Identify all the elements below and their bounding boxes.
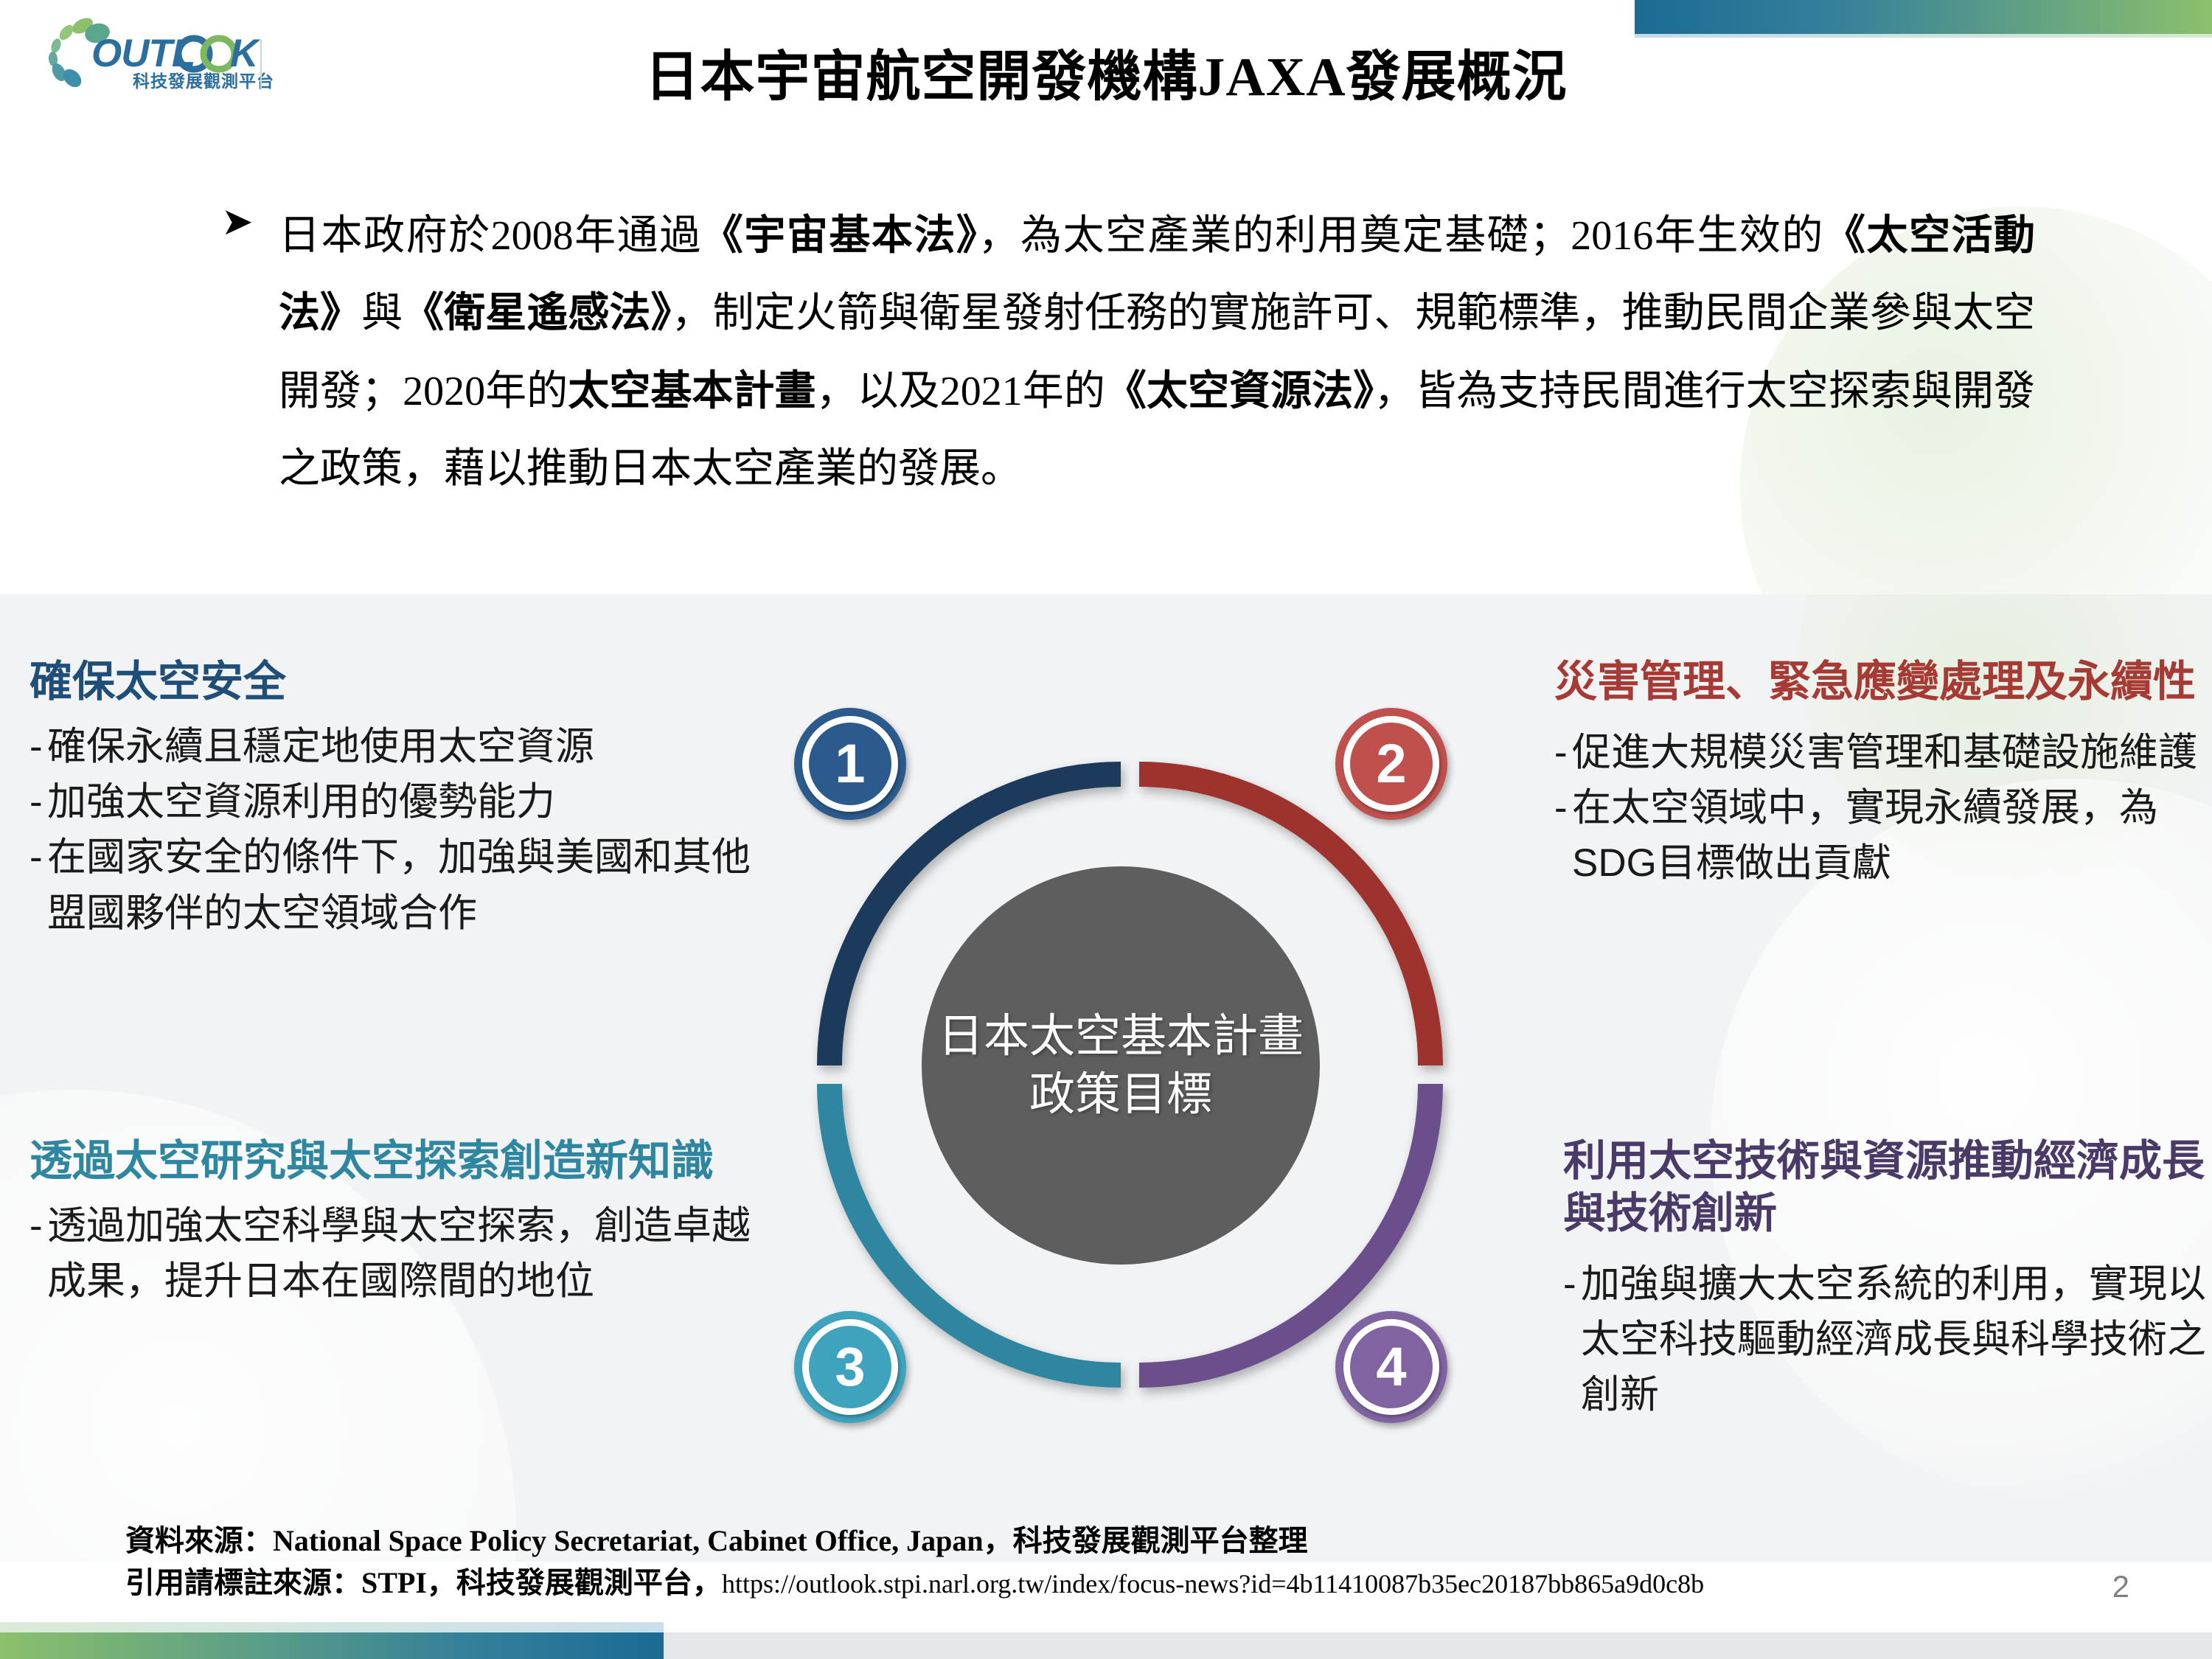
ring-badge-2-number: 2 bbox=[1343, 716, 1439, 812]
top-right-gradient-bar bbox=[1635, 0, 2212, 34]
intro-segment-2: ，為太空產業的利用奠定基礎；2016年生效的 bbox=[978, 213, 1823, 259]
quadrant-top-left: 確保太空安全 -確保永續且穩定地使用太空資源-加強太空資源利用的優勢能力-在國家… bbox=[29, 656, 767, 941]
ring-badge-2: 2 bbox=[1335, 708, 1447, 820]
dash-icon: - bbox=[29, 774, 47, 829]
ring-badge-3-number: 3 bbox=[802, 1319, 898, 1415]
dash-icon: - bbox=[29, 1198, 47, 1253]
list-item-text: 透過加強太空科學與太空探索，創造卓越成果，提升日本在國際間的地位 bbox=[47, 1198, 767, 1310]
list-item: -在太空領域中，實現永續發展，為SDG目標做出貢獻 bbox=[1554, 780, 2203, 891]
intro-segment-5: 《衛星遙感法》 bbox=[403, 291, 671, 336]
ring-center-line2: 政策目標 bbox=[938, 1065, 1304, 1124]
intro-segment-8: ，以及2021年的 bbox=[816, 369, 1105, 414]
page-title: 日本宇宙航空開發機構JAXA發展概況 bbox=[0, 32, 2212, 111]
policy-ring-diagram: 1 2 3 4 日本太空基本計畫 政策目標 bbox=[726, 656, 1515, 1475]
list-item: -在國家安全的條件下，加強與美國和其他盟國夥伴的太空領域合作 bbox=[29, 829, 767, 941]
dash-icon: - bbox=[29, 829, 47, 885]
page-number: 2 bbox=[2112, 1569, 2129, 1604]
intro-segment-9: 《太空資源法》 bbox=[1105, 369, 1374, 414]
source-line-2: 引用請標註來源：STPI，科技發展觀測平台，https://outlook.st… bbox=[125, 1562, 1704, 1604]
quadrant-top-left-list: -確保永續且穩定地使用太空資源-加強太空資源利用的優勢能力-在國家安全的條件下，… bbox=[29, 719, 767, 941]
list-item-text: 在太空領域中，實現永續發展，為SDG目標做出貢獻 bbox=[1572, 780, 2203, 891]
bullet-arrow-icon: ➤ bbox=[221, 198, 279, 242]
intro-paragraph: ➤ 日本政府於2008年通過《宇宙基本法》，為太空產業的利用奠定基礎；2016年… bbox=[221, 198, 2035, 508]
quadrant-bottom-left: 透過太空研究與太空探索創造新知識 -透過加強太空科學與太空探索，創造卓越成果，提… bbox=[29, 1135, 767, 1309]
quadrant-bottom-left-heading: 透過太空研究與太空探索創造新知識 bbox=[29, 1135, 767, 1188]
ring-center-label: 日本太空基本計畫 政策目標 bbox=[922, 866, 1320, 1265]
ring-badge-3: 3 bbox=[794, 1311, 906, 1423]
quadrant-bottom-right-list: -加強與擴大太空系統的利用，實現以太空科技驅動經濟成長與科學技術之創新 bbox=[1563, 1256, 2212, 1423]
dash-icon: - bbox=[29, 719, 47, 774]
quadrant-bottom-left-list: -透過加強太空科學與太空探索，創造卓越成果，提升日本在國際間的地位 bbox=[29, 1198, 767, 1310]
list-item: -透過加強太空科學與太空探索，創造卓越成果，提升日本在國際間的地位 bbox=[29, 1198, 767, 1310]
quadrant-top-right-list: -促進大規模災害管理和基礎設施維護-在太空領域中，實現永續發展，為SDG目標做出… bbox=[1554, 725, 2203, 891]
quadrant-top-right: 災害管理、緊急應變處理及永續性 -促進大規模災害管理和基礎設施維護-在太空領域中… bbox=[1554, 656, 2203, 891]
bottom-strip bbox=[664, 1632, 2212, 1659]
ring-badge-1-number: 1 bbox=[802, 716, 898, 812]
ring-center-line1: 日本太空基本計畫 bbox=[938, 1007, 1304, 1065]
dash-icon: - bbox=[1563, 1256, 1581, 1312]
source-footer: 資料來源：National Space Policy Secretariat, … bbox=[125, 1520, 1704, 1604]
list-item: -確保永續且穩定地使用太空資源 bbox=[29, 719, 767, 774]
source-line-2-label: 引用請標註來源：STPI，科技發展觀測平台， bbox=[125, 1566, 722, 1599]
list-item: -促進大規模災害管理和基礎設施維護 bbox=[1554, 725, 2203, 780]
quadrant-bottom-right-heading: 利用太空技術與資源推動經濟成長與技術創新 bbox=[1563, 1135, 2212, 1240]
dash-icon: - bbox=[1554, 780, 1572, 835]
ring-badge-4-number: 4 bbox=[1343, 1319, 1439, 1415]
quadrant-top-right-heading: 災害管理、緊急應變處理及永續性 bbox=[1554, 656, 2203, 709]
intro-segment-4: 與 bbox=[361, 291, 403, 336]
list-item-text: 促進大規模災害管理和基礎設施維護 bbox=[1572, 725, 2203, 780]
intro-paragraph-text: 日本政府於2008年通過《宇宙基本法》，為太空產業的利用奠定基礎；2016年生效… bbox=[279, 198, 2035, 508]
list-item-text: 加強太空資源利用的優勢能力 bbox=[47, 774, 767, 829]
list-item-text: 在國家安全的條件下，加強與美國和其他盟國夥伴的太空領域合作 bbox=[47, 829, 767, 941]
intro-segment-0: 日本政府於2008年通過 bbox=[279, 213, 702, 259]
bottom-left-gradient-bar bbox=[0, 1632, 664, 1659]
source-line-1: 資料來源：National Space Policy Secretariat, … bbox=[125, 1520, 1704, 1562]
intro-segment-7: 太空基本計畫 bbox=[568, 369, 815, 414]
ring-badge-4: 4 bbox=[1335, 1311, 1447, 1423]
slide-root: OUTL K 科技發展觀測平台 日本宇宙航空開發機構JAXA發展概況 ➤ 日本政… bbox=[0, 0, 2212, 1659]
quadrant-bottom-right: 利用太空技術與資源推動經濟成長與技術創新 -加強與擴大太空系統的利用，實現以太空… bbox=[1563, 1135, 2212, 1422]
list-item-text: 加強與擴大太空系統的利用，實現以太空科技驅動經濟成長與科學技術之創新 bbox=[1581, 1256, 2212, 1423]
list-item: -加強與擴大太空系統的利用，實現以太空科技驅動經濟成長與科學技術之創新 bbox=[1563, 1256, 2212, 1423]
ring-badge-1: 1 bbox=[794, 708, 906, 820]
list-item: -加強太空資源利用的優勢能力 bbox=[29, 774, 767, 829]
intro-segment-1: 《宇宙基本法》 bbox=[702, 213, 978, 259]
bottom-left-gradient-bar-shade bbox=[0, 1622, 664, 1632]
dash-icon: - bbox=[1554, 725, 1572, 780]
source-url[interactable]: https://outlook.stpi.narl.org.tw/index/f… bbox=[722, 1569, 1704, 1599]
list-item-text: 確保永續且穩定地使用太空資源 bbox=[47, 719, 767, 774]
quadrant-top-left-heading: 確保太空安全 bbox=[29, 656, 767, 709]
